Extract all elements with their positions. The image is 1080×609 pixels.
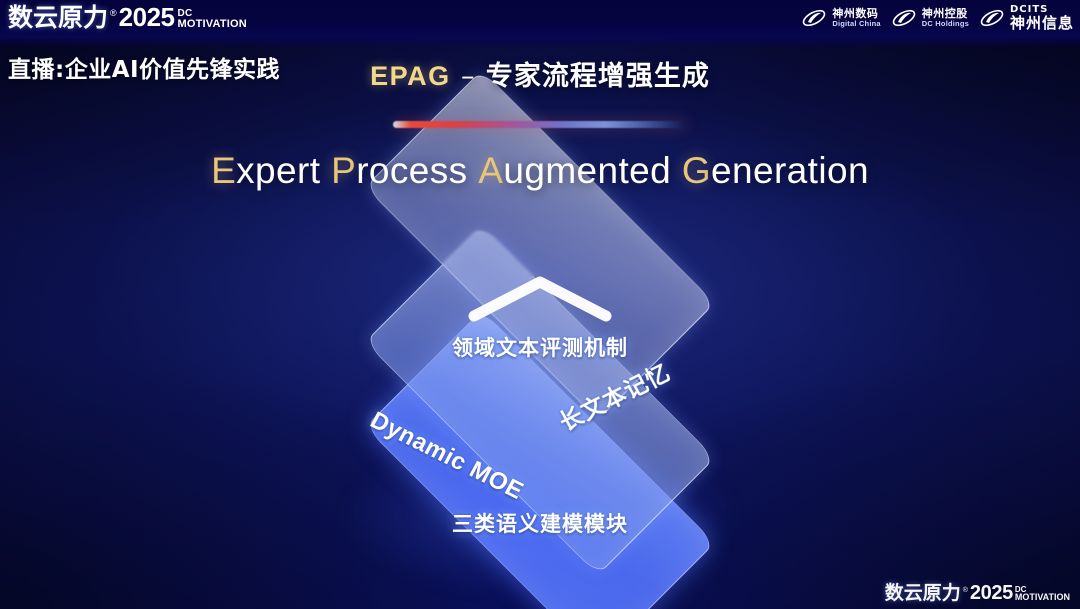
event-logo-dc-motivation: DC MOTIVATION <box>178 9 247 30</box>
subtitle-rest-process: rocess <box>356 150 467 191</box>
subtitle-rest-augmented: ugmented <box>503 150 671 191</box>
slide-subtitle: Expert Process Augmented Generation <box>0 150 1080 192</box>
headline-chinese: 专家流程增强生成 <box>486 61 710 92</box>
layer-label-top: 领域文本评测机制 <box>0 332 1080 362</box>
partner-logo-digital-china: 神州数码 Digital China <box>801 5 880 31</box>
partner-logo-dcits: DCITS 神州信息 <box>979 5 1074 31</box>
corner-watermark-logo: 数云原力 ® 2025 DC MOTIVATION <box>885 583 1070 603</box>
partner-logo-group: 神州数码 Digital China 神州控股 DC Holdings DCIT… <box>801 5 1074 31</box>
swirl-logo-icon <box>801 6 827 30</box>
watermark-registered-mark-icon: ® <box>963 587 968 603</box>
live-stream-title: 直播:企业AI价值先锋实践 <box>8 50 280 84</box>
event-logo: 数云原力 ® 2025 DC MOTIVATION <box>8 4 247 30</box>
partner-name-en: DC Holdings <box>922 20 969 28</box>
headline-dash: – <box>461 61 476 92</box>
watermark-year: 2025 <box>970 583 1013 603</box>
subtitle-cap-g: G <box>682 150 711 191</box>
event-logo-motivation: MOTIVATION <box>178 19 247 29</box>
partner-name-en: Digital China <box>832 20 880 28</box>
chevron-up-icon <box>466 272 614 324</box>
watermark-cn: 数云原力 <box>885 584 961 603</box>
watermark-dc-motivation: DC MOTIVATION <box>1015 586 1070 603</box>
swirl-logo-icon <box>891 6 917 30</box>
partner-logo-dc-holdings: 神州控股 DC Holdings <box>891 5 969 31</box>
slide-canvas: 数云原力 ® 2025 DC MOTIVATION 直播:企业AI价值先锋实践 … <box>0 0 1080 609</box>
watermark-motivation: MOTIVATION <box>1015 593 1070 602</box>
subtitle-cap-a: A <box>478 150 503 191</box>
event-logo-year: 2025 <box>119 4 175 30</box>
event-logo-cn: 数云原力 <box>8 5 108 30</box>
subtitle-rest-expert: xpert <box>236 150 320 191</box>
headline-acronym: EPAG <box>370 61 451 91</box>
top-bar-fade <box>0 38 1080 48</box>
registered-mark-icon: ® <box>110 9 117 30</box>
subtitle-cap-e: E <box>211 150 236 191</box>
layer-label-bottom: 三类语义建模模块 <box>0 508 1080 538</box>
subtitle-cap-p: P <box>331 150 356 191</box>
partner-name-cn: 神州信息 <box>1010 16 1074 32</box>
subtitle-rest-generation: eneration <box>711 150 869 191</box>
gradient-divider <box>393 121 687 128</box>
swirl-logo-icon <box>979 6 1005 30</box>
